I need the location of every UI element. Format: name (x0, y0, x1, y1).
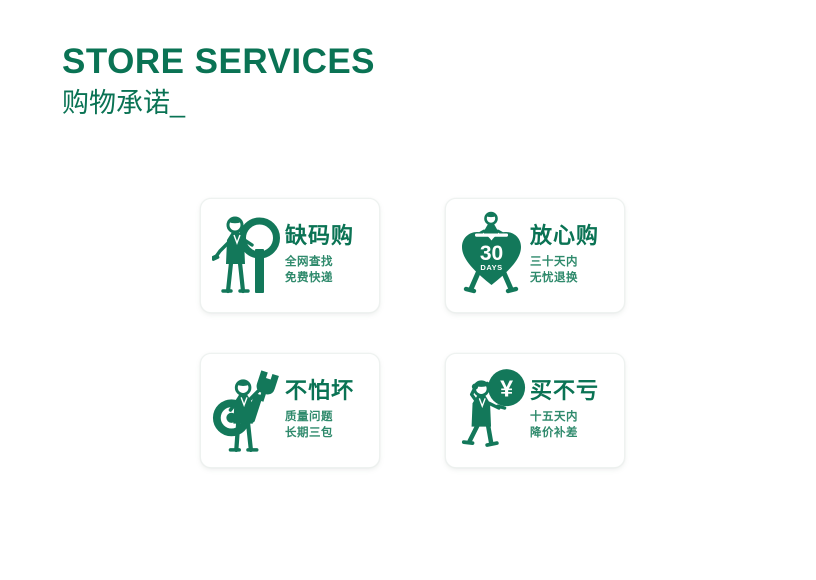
card-subtitle-line-1: 质量问题 (285, 409, 333, 426)
card-text-block: 不怕坏 质量问题 长期三包 (283, 379, 371, 442)
wrench-gear-person-icon (211, 365, 283, 457)
page-subtitle: 购物承诺_ (62, 89, 482, 119)
card-subtitle-line-1: 全网查找 (285, 254, 333, 271)
card-title: 缺码购 (285, 224, 354, 249)
card-title: 不怕坏 (285, 379, 354, 404)
card-subtitle-line-2: 降价补差 (530, 425, 578, 442)
card-subtitle: 三十天内 无忧退换 (530, 254, 578, 287)
service-card-grid: 缺码购 全网查找 免费快递 (200, 198, 625, 468)
page-title: STORE SERVICES (62, 44, 482, 81)
badge-unit: DAYS (480, 263, 502, 272)
card-subtitle: 质量问题 长期三包 (285, 409, 333, 442)
card-title: 放心购 (530, 224, 599, 249)
badge-number: 30 (480, 242, 503, 265)
page-header: STORE SERVICES 购物承诺_ (62, 44, 482, 118)
card-subtitle: 十五天内 降价补差 (530, 409, 578, 442)
card-subtitle-line-2: 免费快递 (285, 270, 333, 287)
service-card-quehemagou[interactable]: 缺码购 全网查找 免费快递 (200, 198, 380, 313)
card-subtitle-line-1: 三十天内 (530, 254, 578, 271)
card-text-block: 买不亏 十五天内 降价补差 (528, 379, 616, 442)
magnifier-person-icon (211, 210, 283, 302)
card-subtitle-line-2: 无忧退换 (530, 270, 578, 287)
card-text-block: 缺码购 全网查找 免费快递 (283, 224, 371, 287)
card-text-block: 放心购 三十天内 无忧退换 (528, 224, 616, 287)
yen-symbol: ¥ (500, 375, 513, 401)
card-subtitle-line-1: 十五天内 (530, 409, 578, 426)
service-card-maibukui[interactable]: ¥ 买不亏 十五天内 降价补差 (445, 353, 625, 468)
yen-coin-person-icon: ¥ (456, 365, 528, 457)
card-subtitle-line-2: 长期三包 (285, 425, 333, 442)
heart-30-days-icon: 30 DAYS (456, 210, 528, 302)
service-card-bupahuai[interactable]: 不怕坏 质量问题 长期三包 (200, 353, 380, 468)
card-title: 买不亏 (530, 379, 599, 404)
card-subtitle: 全网查找 免费快递 (285, 254, 333, 287)
service-card-fangxingou[interactable]: 30 DAYS 放心购 三十天内 无忧退换 (445, 198, 625, 313)
